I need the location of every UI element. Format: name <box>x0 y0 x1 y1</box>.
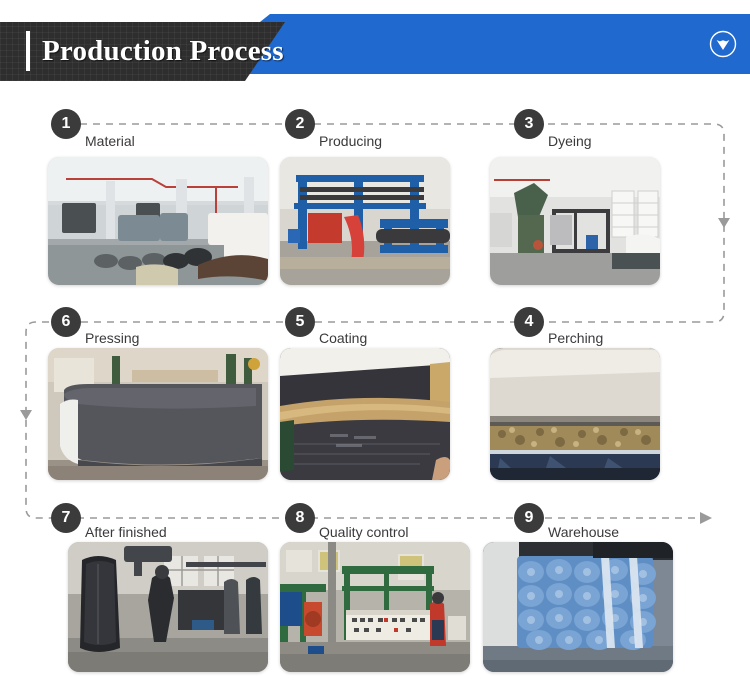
flow-arrow-end <box>700 512 712 524</box>
step-photo-3[interactable] <box>490 157 660 285</box>
step-badge-4[interactable]: 4 <box>514 307 544 337</box>
step-photo-1[interactable] <box>48 157 268 285</box>
flow-arrow-left-down <box>20 410 32 420</box>
step-label-6: Pressing <box>85 330 139 346</box>
page-title: Production Process <box>42 31 284 71</box>
step-photo-7[interactable] <box>68 542 268 672</box>
step-label-8: Quality control <box>319 524 408 540</box>
step-badge-8[interactable]: 8 <box>285 503 315 533</box>
step-badge-9[interactable]: 9 <box>514 503 544 533</box>
step-photo-2[interactable] <box>280 157 450 285</box>
chevron-down-circle-icon[interactable] <box>709 30 737 58</box>
step-label-9: Warehouse <box>548 524 619 540</box>
step-badge-2[interactable]: 2 <box>285 109 315 139</box>
step-photo-8[interactable] <box>280 542 470 672</box>
step-badge-1[interactable]: 1 <box>51 109 81 139</box>
step-label-5: Coating <box>319 330 367 346</box>
step-badge-5[interactable]: 5 <box>285 307 315 337</box>
flow-arrow-right-down <box>718 218 730 228</box>
step-badge-3[interactable]: 3 <box>514 109 544 139</box>
step-photo-9[interactable] <box>483 542 673 672</box>
step-photo-4[interactable] <box>490 348 660 480</box>
step-label-1: Material <box>85 133 135 149</box>
step-label-7: After finished <box>85 524 167 540</box>
step-label-4: Perching <box>548 330 603 346</box>
step-photo-5[interactable] <box>280 348 450 480</box>
page-header: Production Process <box>0 0 750 90</box>
step-badge-7[interactable]: 7 <box>51 503 81 533</box>
step-label-2: Producing <box>319 133 382 149</box>
header-accent-bar <box>26 31 30 71</box>
step-badge-6[interactable]: 6 <box>51 307 81 337</box>
step-photo-6[interactable] <box>48 348 268 480</box>
step-label-3: Dyeing <box>548 133 592 149</box>
